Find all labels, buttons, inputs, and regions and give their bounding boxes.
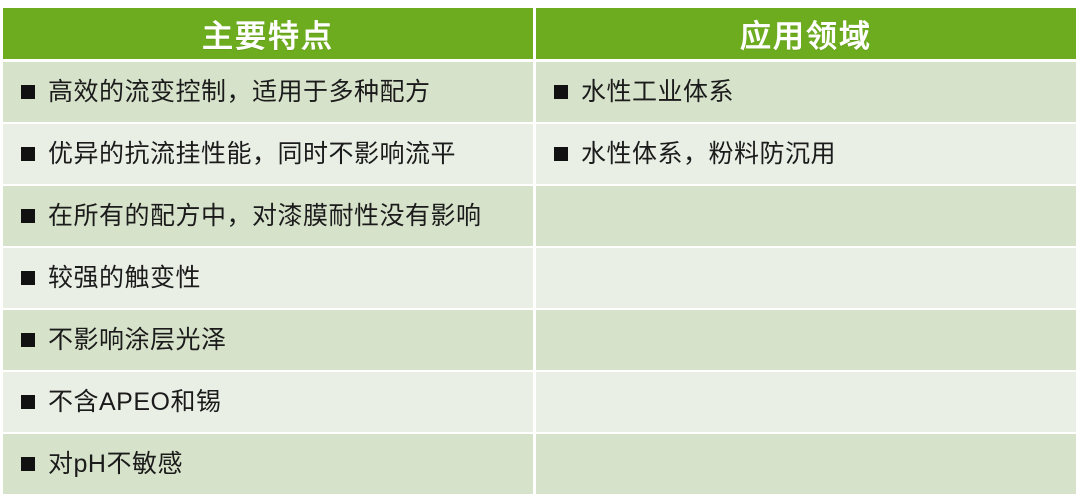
bullet-square-icon — [21, 209, 35, 223]
cell-application-2: 水性体系，粉料防沉用 — [536, 124, 1076, 186]
cell-application-7-empty — [536, 434, 1076, 496]
cell-application-1: 水性工业体系 — [536, 62, 1076, 124]
column-header-application-areas: 应用领域 — [536, 8, 1076, 62]
cell-text: 不含APEO和锡 — [48, 390, 221, 415]
cell-feature-7: 对pH不敏感 — [3, 434, 536, 496]
cell-feature-4: 较强的触变性 — [3, 248, 536, 310]
bullet-square-icon — [21, 271, 35, 285]
cell-application-4-empty — [536, 248, 1076, 310]
cell-feature-3: 在所有的配方中，对漆膜耐性没有影响 — [3, 186, 536, 248]
cell-text: 在所有的配方中，对漆膜耐性没有影响 — [48, 204, 482, 229]
table-header: 主要特点 应用领域 — [3, 8, 1076, 62]
table-row: 优异的抗流挂性能，同时不影响流平 水性体系，粉料防沉用 — [3, 124, 1076, 186]
cell-feature-1: 高效的流变控制，适用于多种配方 — [3, 62, 536, 124]
cell-text: 较强的触变性 — [48, 266, 201, 291]
table-row: 在所有的配方中，对漆膜耐性没有影响 — [3, 186, 1076, 248]
bullet-square-icon — [554, 147, 568, 161]
cell-application-6-empty — [536, 372, 1076, 434]
cell-application-3-empty — [536, 186, 1076, 248]
table-row: 不影响涂层光泽 — [3, 310, 1076, 372]
cell-text: 优异的抗流挂性能，同时不影响流平 — [48, 142, 456, 167]
table-row: 对pH不敏感 — [3, 434, 1076, 496]
cell-text: 水性体系，粉料防沉用 — [581, 142, 836, 167]
bullet-square-icon — [21, 147, 35, 161]
table-row: 不含APEO和锡 — [3, 372, 1076, 434]
cell-application-5-empty — [536, 310, 1076, 372]
bullet-square-icon — [554, 85, 568, 99]
table-body: 高效的流变控制，适用于多种配方 水性工业体系 优异的抗流挂性能，同时不影响流平 — [3, 62, 1076, 496]
bullet-square-icon — [21, 457, 35, 471]
bullet-square-icon — [21, 333, 35, 347]
cell-text: 对pH不敏感 — [48, 452, 183, 477]
bullet-square-icon — [21, 85, 35, 99]
cell-text: 不影响涂层光泽 — [48, 328, 227, 353]
header-row: 主要特点 应用领域 — [3, 8, 1076, 62]
cell-feature-2: 优异的抗流挂性能，同时不影响流平 — [3, 124, 536, 186]
cell-text: 高效的流变控制，适用于多种配方 — [48, 80, 431, 105]
cell-feature-5: 不影响涂层光泽 — [3, 310, 536, 372]
bullet-square-icon — [21, 395, 35, 409]
table-row: 较强的触变性 — [3, 248, 1076, 310]
features-applications-table: 主要特点 应用领域 高效的流变控制，适用于多种配方 水性工业体系 — [3, 8, 1076, 496]
cell-feature-6: 不含APEO和锡 — [3, 372, 536, 434]
column-header-main-features: 主要特点 — [3, 8, 536, 62]
table-row: 高效的流变控制，适用于多种配方 水性工业体系 — [3, 62, 1076, 124]
cell-text: 水性工业体系 — [581, 80, 734, 105]
